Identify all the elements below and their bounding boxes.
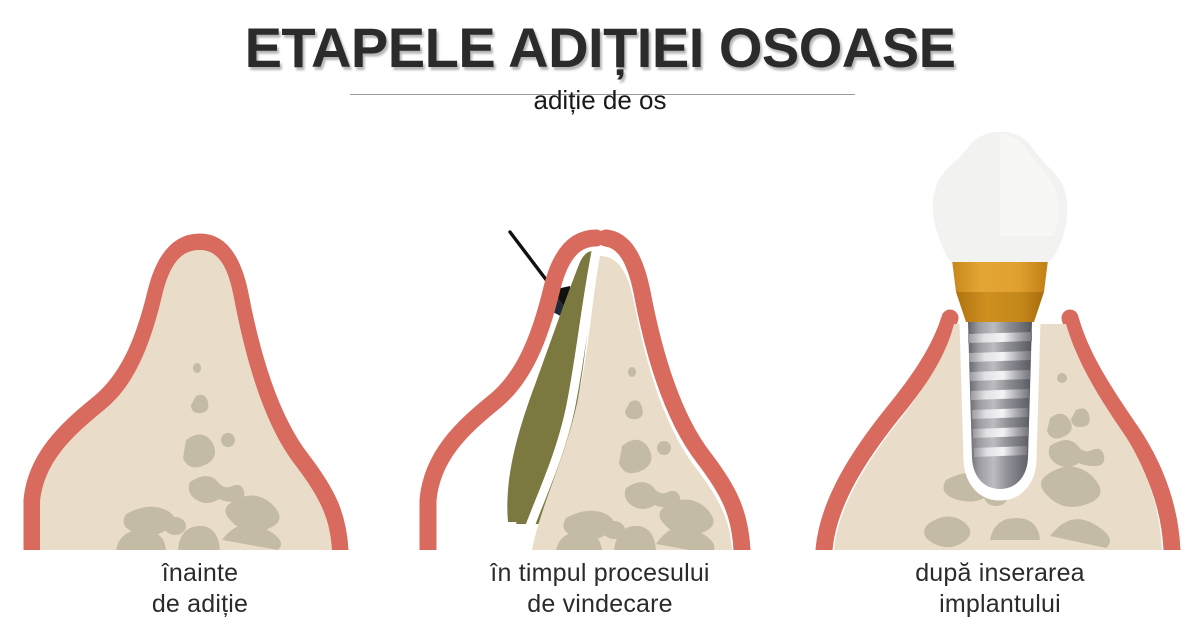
bone-body <box>40 250 332 550</box>
panels-row: înainte de adiție <box>0 110 1200 628</box>
dental-implant-illustration <box>800 110 1200 550</box>
abutment-upper-band <box>952 260 1048 292</box>
caption-line-1: înainte <box>162 559 238 587</box>
caption-line-1: în timpul procesului <box>490 559 709 587</box>
caption-line-2: implantului <box>800 589 1200 620</box>
caption-line-1: după inserarea <box>915 559 1085 587</box>
implant-screw-body <box>968 322 1032 489</box>
abutment-lower-band <box>956 292 1044 322</box>
caption-after-implant: după inserarea implantului <box>800 558 1200 620</box>
panel-during-healing: în timpul procesului de vindecare <box>400 110 800 628</box>
caption-before-graft: înainte de adiție <box>0 558 400 620</box>
caption-during-healing: în timpul procesului de vindecare <box>400 558 800 620</box>
bone-graft-illustration <box>400 110 800 550</box>
panel-after-implant: după inserarea implantului <box>800 110 1200 628</box>
bone-ridge-illustration <box>0 110 400 550</box>
page-title: ETAPELE ADIȚIEI OSOASE <box>0 17 1200 79</box>
caption-line-2: de adiție <box>0 589 400 620</box>
infographic-page: ETAPELE ADIȚIEI OSOASE adiție de os <box>0 0 1200 628</box>
panel-before-graft: înainte de adiție <box>0 110 400 628</box>
caption-line-2: de vindecare <box>400 589 800 620</box>
